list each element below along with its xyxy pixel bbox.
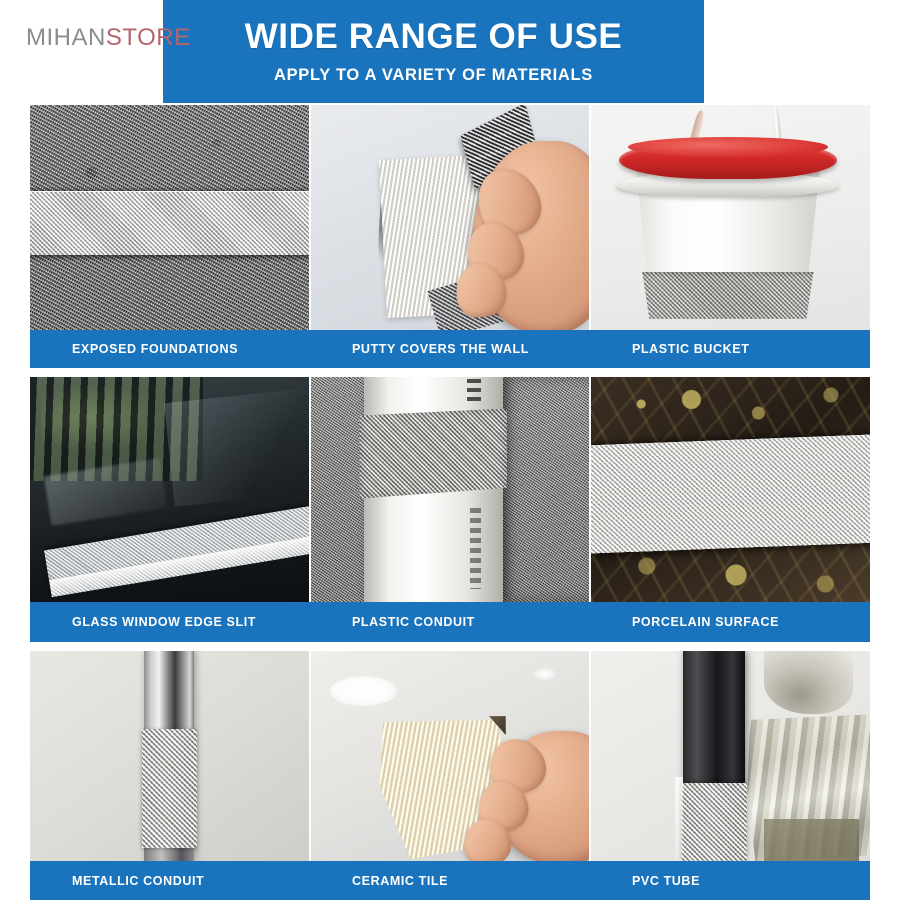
gray-tape-wrap-on-conduit [359, 409, 507, 499]
grid-row-2: GLASS WINDOW EDGE SLIT PLASTIC CONDUIT P… [30, 377, 870, 642]
label-porcelain-surface: PORCELAIN SURFACE [590, 615, 870, 629]
concrete-wall-left [311, 377, 367, 602]
watermark-text-secondary: STORE [106, 24, 191, 51]
white-tape-band-on-porcelain [591, 434, 870, 553]
photo-row-2 [30, 377, 870, 602]
label-plastic-bucket: PLASTIC BUCKET [590, 342, 870, 356]
bucket-red-lid-top [628, 137, 829, 157]
photo-plastic-conduit [311, 377, 590, 602]
mihanstore-watermark: MIHANSTORE [26, 24, 191, 52]
product-infographic: MIHANSTORE WIDE RANGE OF USE APPLY TO A … [0, 0, 900, 900]
pipe-printed-marking [470, 508, 481, 589]
row-divider-1 [30, 368, 870, 377]
header-subtitle: APPLY TO A VARIETY OF MATERIALS [163, 66, 704, 85]
label-pvc-tube: PVC TUBE [590, 874, 870, 888]
photo-metallic-conduit [30, 651, 309, 861]
foil-sheet-top [764, 651, 853, 714]
label-putty-covers-the-wall: PUTTY COVERS THE WALL [310, 342, 590, 356]
photo-row-1 [30, 105, 870, 330]
label-metallic-conduit: METALLIC CONDUIT [30, 874, 310, 888]
photo-porcelain-surface [591, 377, 870, 602]
pipe-printed-marking-top [467, 379, 481, 406]
black-pvc-tube [683, 651, 744, 794]
watermark-text-primary: MIHAN [26, 24, 106, 51]
grid-row-3: METALLIC CONDUIT CERAMIC TILE PVC TUBE [30, 651, 870, 900]
photo-plastic-bucket [591, 105, 870, 330]
photo-glass-window-edge-slit [30, 377, 309, 602]
white-diamond-tape-strip [30, 191, 309, 255]
label-band-row-2: GLASS WINDOW EDGE SLIT PLASTIC CONDUIT P… [30, 602, 870, 642]
use-case-grid: EXPOSED FOUNDATIONS PUTTY COVERS THE WAL… [30, 105, 870, 890]
label-glass-window-edge-slit: GLASS WINDOW EDGE SLIT [30, 615, 310, 629]
concrete-wall-right [500, 377, 589, 602]
label-exposed-foundations: EXPOSED FOUNDATIONS [30, 342, 310, 356]
photo-ceramic-tile [311, 651, 590, 861]
label-ceramic-tile: CERAMIC TILE [310, 874, 590, 888]
foil-shadow-area [764, 819, 859, 861]
tape-edge-highlight [675, 777, 683, 861]
header-title: WIDE RANGE OF USE [163, 19, 704, 56]
header-banner: WIDE RANGE OF USE APPLY TO A VARIETY OF … [163, 0, 704, 103]
grid-row-1: EXPOSED FOUNDATIONS PUTTY COVERS THE WAL… [30, 105, 870, 368]
glass-sheen [164, 387, 308, 506]
light-reflection-spot [330, 676, 397, 705]
photo-pvc-tube [591, 651, 870, 861]
label-band-row-1: EXPOSED FOUNDATIONS PUTTY COVERS THE WAL… [30, 330, 870, 368]
label-band-row-3: METALLIC CONDUIT CERAMIC TILE PVC TUBE [30, 861, 870, 900]
row-divider-2 [30, 642, 870, 651]
silver-tape-wrap-on-pvc [681, 783, 748, 861]
photo-putty-covers-wall [311, 105, 590, 330]
gray-tape-wrap-on-bucket [639, 272, 817, 319]
photo-row-3 [30, 651, 870, 861]
photo-exposed-foundations [30, 105, 309, 330]
label-plastic-conduit: PLASTIC CONDUIT [310, 615, 590, 629]
silver-diamond-tape-wrap-on-metal [142, 729, 197, 849]
